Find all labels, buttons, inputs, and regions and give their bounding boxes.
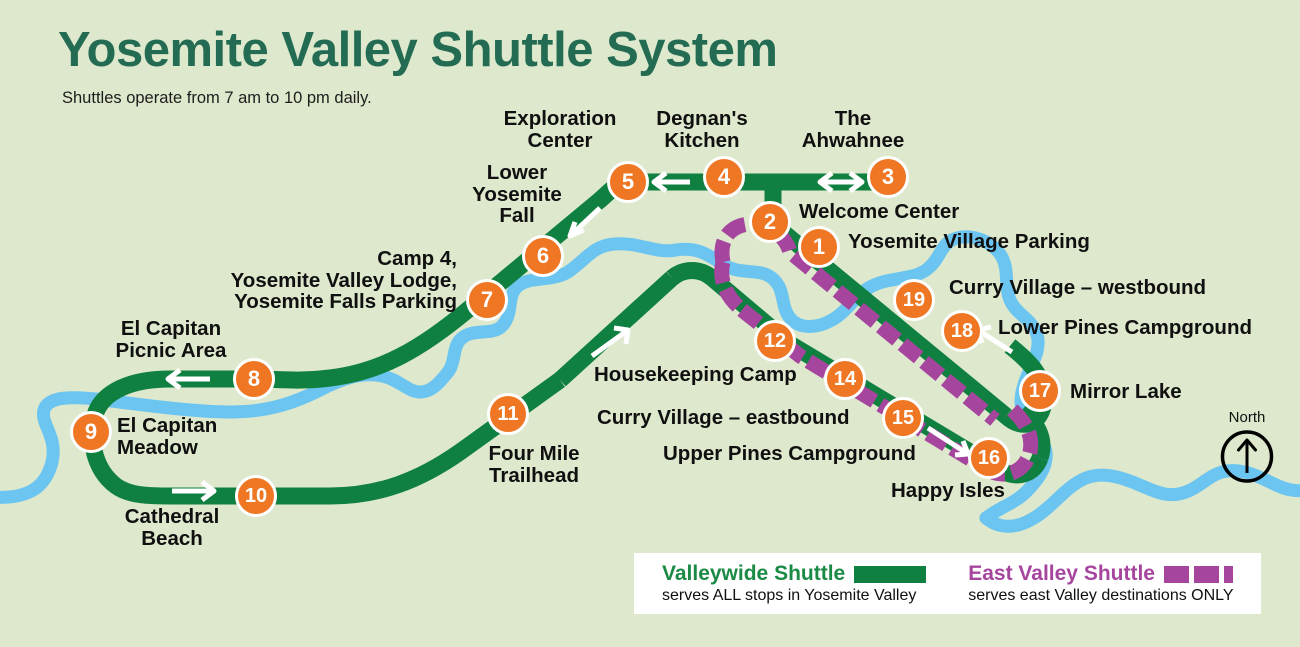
stop-marker-12[interactable]: 12 [754,320,796,362]
stop-marker-14[interactable]: 14 [824,358,866,400]
north-label: North [1220,409,1275,426]
stop-marker-1[interactable]: 1 [798,226,840,268]
stop-marker-7[interactable]: 7 [466,279,508,321]
stop-marker-6[interactable]: 6 [522,235,564,277]
label-housekeeping-camp: Housekeeping Camp [594,364,797,386]
stop-marker-9[interactable]: 9 [70,411,112,453]
label-upper-pines-campground: Upper Pines Campground [663,443,916,465]
legend-valleywide-title: Valleywide Shuttle [662,562,845,586]
arrow-northeast-crest [696,296,728,316]
stop-marker-15[interactable]: 15 [882,397,924,439]
stop-marker-8[interactable]: 8 [233,358,275,400]
stop-marker-3[interactable]: 3 [867,156,909,198]
label-degnans-kitchen: Degnan's Kitchen [656,108,747,151]
legend-valleywide-shuttle: Valleywide Shuttle serves ALL stops in Y… [662,562,926,605]
label-cathedral-beach: Cathedral Beach [125,506,220,549]
stop-marker-17[interactable]: 17 [1019,370,1061,412]
label-lower-yosemite-fall: Lower Yosemite Fall [472,162,562,227]
stop-marker-4[interactable]: 4 [703,156,745,198]
shuttle-map: Yosemite Valley Shuttle System Shuttles … [0,0,1300,647]
north-arrow-icon [1220,429,1275,484]
label-happy-isles: Happy Isles [891,480,1005,502]
label-lower-pines-campground: Lower Pines Campground [998,317,1252,339]
north-compass: North [1220,409,1275,489]
label-mirror-lake: Mirror Lake [1070,381,1182,403]
label-exploration-center: Exploration Center [504,108,617,151]
stop-marker-10[interactable]: 10 [235,475,277,517]
legend-valleywide-subtitle: serves ALL stops in Yosemite Valley [662,587,926,605]
page-title: Yosemite Valley Shuttle System [58,22,777,78]
stop-marker-11[interactable]: 11 [487,393,529,435]
map-legend: Valleywide Shuttle serves ALL stops in Y… [634,553,1261,614]
label-el-capitan-meadow: El Capitan Meadow [117,415,217,458]
label-el-capitan-picnic-area: El Capitan Picnic Area [116,318,227,361]
legend-east-valley-shuttle: East Valley Shuttle serves east Valley d… [968,562,1233,605]
label-the-ahwahnee: The Ahwahnee [802,108,905,151]
label-curry-village-westbound: Curry Village – westbound [949,277,1206,299]
legend-valleywide-swatch [854,566,926,583]
label-welcome-center: Welcome Center [799,201,959,223]
stop-marker-18[interactable]: 18 [941,310,983,352]
label-four-mile-trailhead: Four Mile Trailhead [488,443,579,486]
stop-marker-5[interactable]: 5 [607,161,649,203]
legend-east-valley-subtitle: serves east Valley destinations ONLY [968,587,1233,605]
legend-east-valley-title: East Valley Shuttle [968,562,1155,586]
stop-marker-2[interactable]: 2 [749,201,791,243]
label-yosemite-village-parking: Yosemite Village Parking [848,231,1090,253]
stop-marker-19[interactable]: 19 [893,279,935,321]
label-curry-village-eastbound: Curry Village – eastbound [597,407,850,429]
legend-east-valley-swatch [1164,566,1233,583]
page-subtitle: Shuttles operate from 7 am to 10 pm dail… [62,89,372,108]
label-camp4-lodge-parking: Camp 4, Yosemite Valley Lodge, Yosemite … [231,248,457,313]
stop-marker-16[interactable]: 16 [968,437,1010,479]
